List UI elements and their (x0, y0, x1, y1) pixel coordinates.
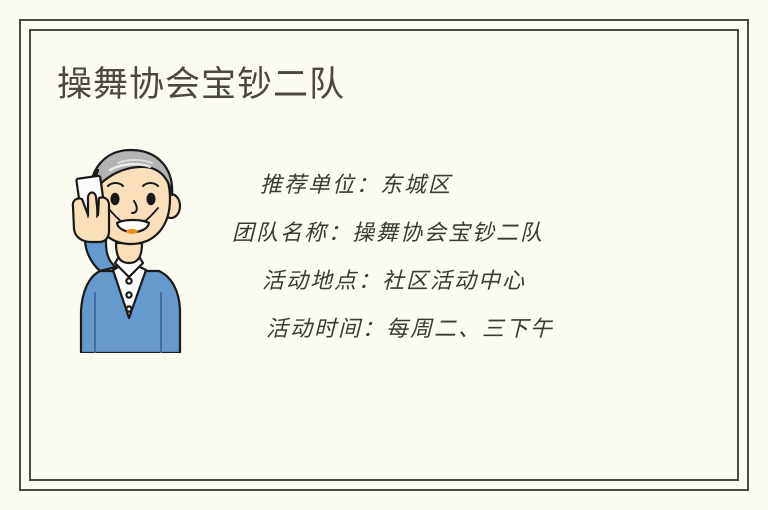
info-line-activity-location: 活动地点：社区活动中心 (232, 258, 632, 306)
info-card: 操舞协会宝钞二队 (0, 0, 768, 510)
page-title: 操舞协会宝钞二队 (57, 63, 345, 107)
info-text-block: 推荐单位：东城区 团队名称：操舞协会宝钞二队 活动地点：社区活动中心 活动时间：… (232, 162, 632, 354)
info-line-activity-time: 活动时间：每周二、三下午 (232, 306, 632, 354)
info-line-recommending-unit: 推荐单位：东城区 (232, 162, 632, 210)
elderly-man-on-phone-illustration (58, 143, 200, 353)
info-line-team-name: 团队名称：操舞协会宝钞二队 (232, 210, 632, 258)
